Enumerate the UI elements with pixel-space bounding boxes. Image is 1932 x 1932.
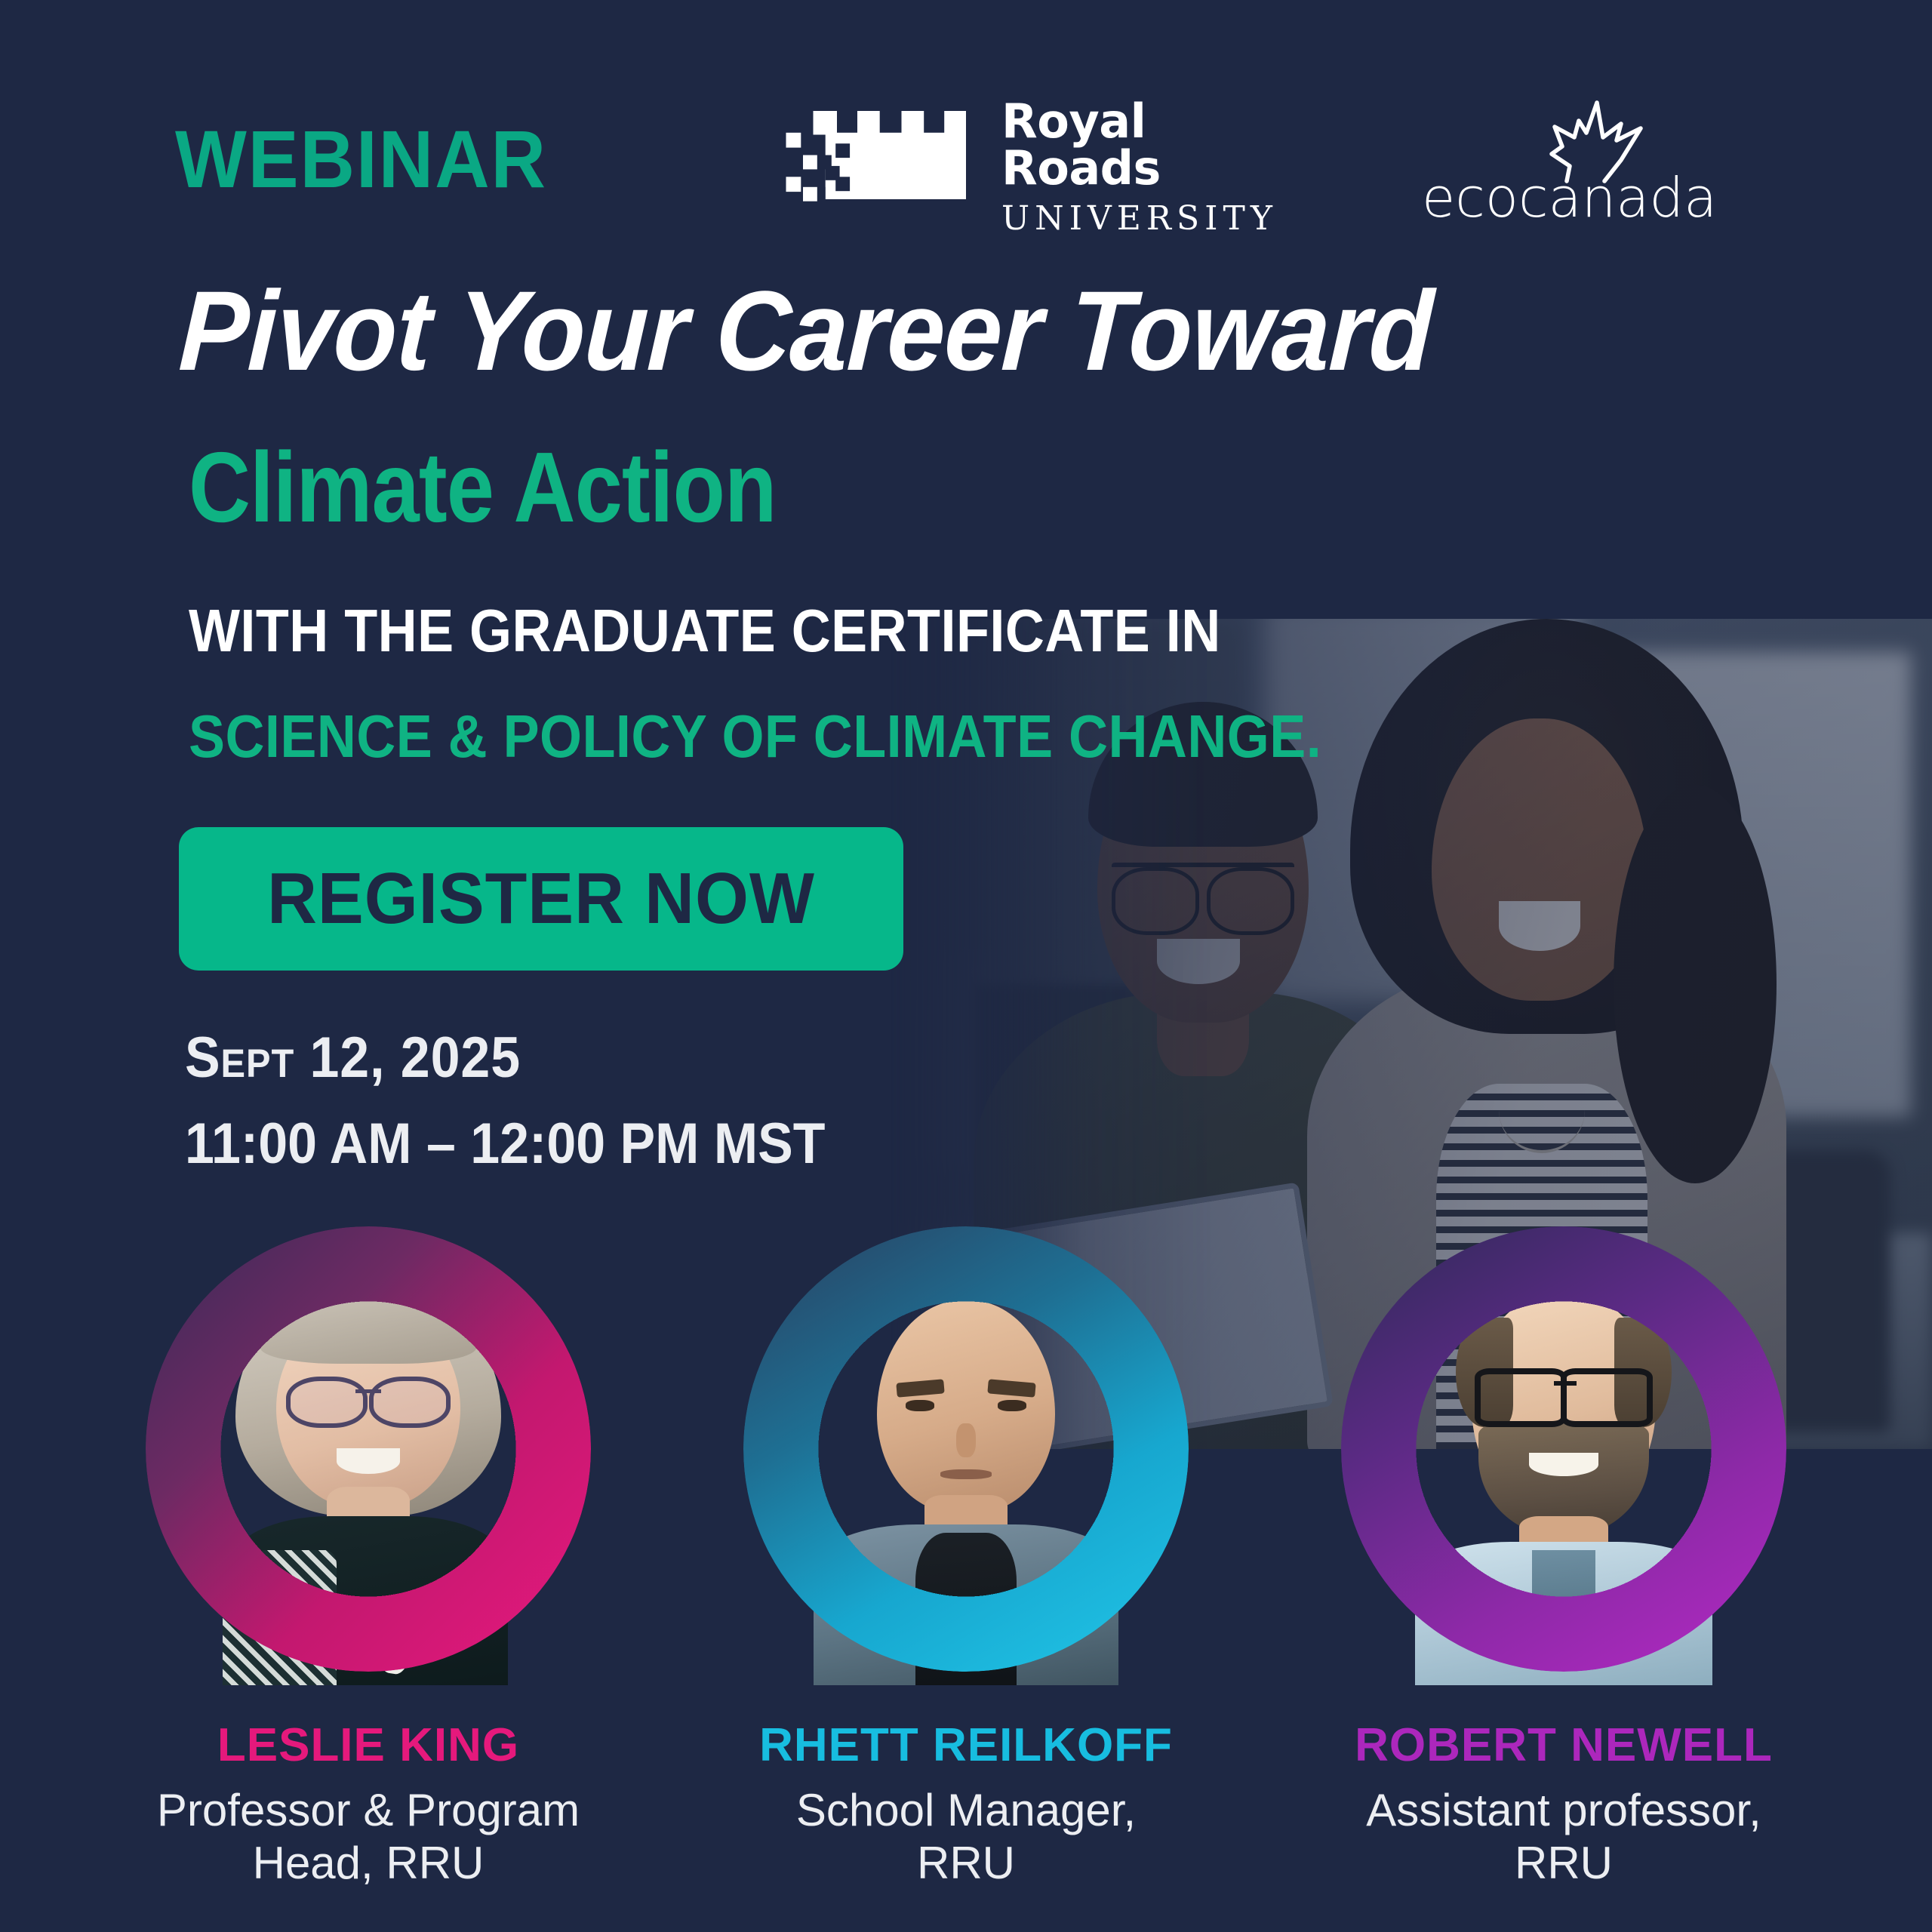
avatar bbox=[146, 1226, 591, 1672]
headline-subtitle-1: WITH THE GRADUATE CERTIFICATE IN bbox=[189, 596, 1221, 666]
speaker-title-line: Head, RRU bbox=[104, 1837, 632, 1890]
event-time: 11:00 AM – 12:00 PM MST bbox=[185, 1111, 825, 1177]
speaker-title-line: Professor & Program bbox=[104, 1784, 632, 1837]
speaker-title-line: RRU bbox=[702, 1837, 1230, 1890]
avatar-ring bbox=[1341, 1226, 1786, 1672]
speaker-card: LESLIE KING Professor & Program Head, RR… bbox=[104, 1226, 632, 1928]
speaker-card: RHETT REILKOFF School Manager, RRU bbox=[702, 1226, 1230, 1928]
register-button-label: REGISTER NOW bbox=[267, 857, 815, 940]
speaker-title: School Manager, RRU bbox=[702, 1784, 1230, 1889]
eco-logo-word-eco: eco bbox=[1422, 166, 1518, 229]
speaker-title-line: RRU bbox=[1300, 1837, 1828, 1890]
webinar-promo-poster: WEBINAR bbox=[0, 0, 1932, 1932]
eco-logo-word-canada: canada bbox=[1518, 166, 1717, 229]
speaker-name: RHETT REILKOFF bbox=[702, 1718, 1230, 1772]
headline-line-2: Climate Action bbox=[189, 430, 777, 544]
poster-header: WEBINAR bbox=[0, 0, 1932, 234]
rru-logo-name: Royal Roads bbox=[1001, 98, 1278, 192]
speaker-name: LESLIE KING bbox=[104, 1718, 632, 1772]
speaker-title-line: Assistant professor, bbox=[1300, 1784, 1828, 1837]
event-date: Sept 12, 2025 bbox=[185, 1025, 521, 1091]
speaker-card: ROBERT NEWELL Assistant professor, RRU bbox=[1300, 1226, 1828, 1928]
avatar-ring bbox=[743, 1226, 1189, 1672]
avatar bbox=[1341, 1226, 1786, 1672]
speaker-title-line: School Manager, bbox=[702, 1784, 1230, 1837]
speaker-title: Assistant professor, RRU bbox=[1300, 1784, 1828, 1889]
headline-subtitle-2: SCIENCE & POLICY OF CLIMATE CHANGE. bbox=[189, 702, 1321, 771]
speaker-name: ROBERT NEWELL bbox=[1300, 1718, 1828, 1772]
headline-line-1: Pivot Your Career Toward bbox=[177, 266, 1435, 396]
pixelated-castle-icon bbox=[779, 104, 977, 206]
speaker-title: Professor & Program Head, RRU bbox=[104, 1784, 632, 1889]
avatar-ring bbox=[146, 1226, 591, 1672]
webinar-label: WEBINAR bbox=[175, 112, 547, 206]
rru-logo-subtitle: UNIVERSITY bbox=[1001, 199, 1278, 238]
speakers-row: LESLIE KING Professor & Program Head, RR… bbox=[0, 1226, 1932, 1928]
eco-canada-logo: eco canada bbox=[1419, 100, 1706, 220]
register-now-button[interactable]: REGISTER NOW bbox=[179, 827, 903, 971]
avatar bbox=[743, 1226, 1189, 1672]
